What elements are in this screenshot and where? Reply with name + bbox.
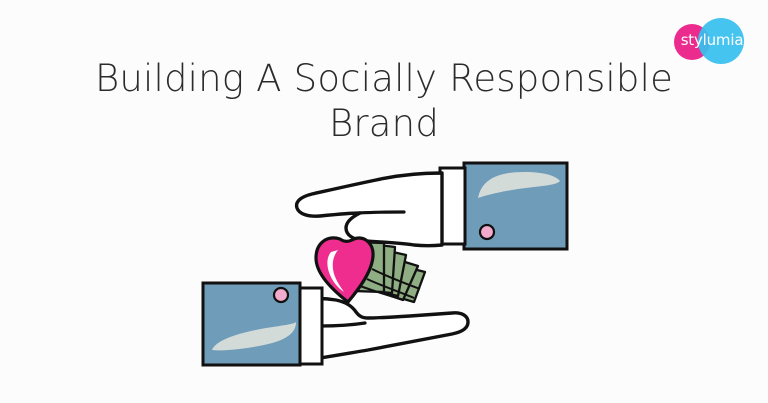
money-dollar-sign: $	[368, 263, 378, 281]
money-dollar-sign: $	[397, 275, 411, 295]
money-dollar-sign: $	[359, 261, 369, 279]
money-fan: $ $ $ $ $	[353, 242, 425, 302]
lower-sleeve-jacket	[203, 283, 300, 365]
money-scribble	[367, 279, 414, 298]
money-bill	[363, 247, 406, 296]
upper-sleeve-highlight	[478, 172, 560, 198]
logo-wordmark: stylumia	[676, 32, 748, 48]
money-scribble	[372, 269, 420, 289]
upper-sleeve-jacket	[464, 163, 567, 249]
money-scribble	[360, 286, 404, 300]
page-title-line-2: Brand	[329, 102, 439, 145]
heart-highlight	[327, 250, 344, 292]
lower-sleeve-button	[274, 288, 288, 302]
lower-shirt-cuff	[298, 288, 322, 364]
lower-hand-finger-crease	[320, 323, 365, 326]
upper-sleeve-button	[480, 225, 494, 239]
upper-hand	[297, 173, 442, 246]
page-title: Building A Socially Responsible Brand	[64, 56, 704, 146]
lower-hand	[300, 299, 468, 361]
upper-hand-finger-crease	[359, 212, 404, 213]
page-title-line-1: Building A Socially Responsible	[95, 57, 673, 100]
money-bill	[353, 242, 384, 292]
slide-canvas: stylumia Building A Socially Responsible…	[0, 0, 768, 403]
money-bill	[359, 243, 395, 293]
lower-sleeve-highlight	[212, 322, 296, 350]
money-dollar-sign: $	[387, 270, 400, 290]
money-bill	[376, 262, 425, 302]
upper-shirt-cuff	[440, 168, 465, 244]
heart-shape	[316, 238, 373, 302]
money-bill	[368, 254, 418, 300]
money-dollar-sign: $	[377, 266, 388, 285]
